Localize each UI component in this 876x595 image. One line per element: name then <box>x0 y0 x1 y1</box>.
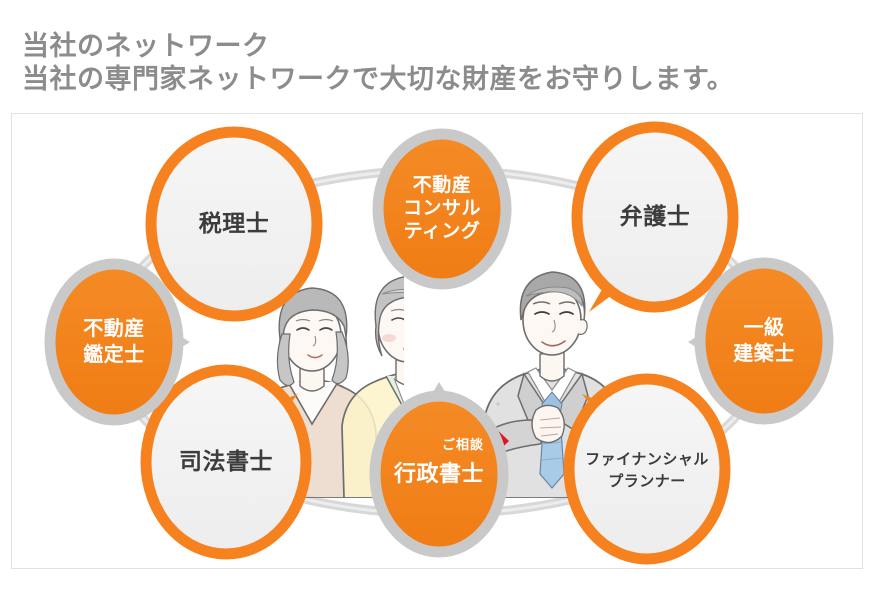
node-first-class-architect[interactable] <box>700 263 828 419</box>
node-tax-accountant[interactable] <box>151 132 317 316</box>
node-judicial-scrivener[interactable] <box>146 370 306 554</box>
infographic-root: 当社のネットワーク 当社の専門家ネットワークで大切な財産をお守りします。 <box>0 0 876 595</box>
title-line-2: 当社の専門家ネットワークで大切な財産をお守りします。 <box>22 63 862 96</box>
network-diagram-svg <box>12 114 864 570</box>
node-financial-planner[interactable] <box>569 379 725 559</box>
node-circles <box>50 127 828 559</box>
page-title: 当社のネットワーク 当社の専門家ネットワークで大切な財産をお守りします。 <box>22 30 862 96</box>
node-real-estate-consulting[interactable] <box>378 134 506 284</box>
node-administrative-scrivener[interactable] <box>375 396 503 552</box>
node-real-estate-appraiser[interactable] <box>50 264 178 420</box>
diagram-panel: 税理士 不動産 コンサル ティング 弁護士 一級 建築士 ファイナンシャル プラ… <box>11 113 863 569</box>
title-line-1: 当社のネットワーク <box>22 30 862 63</box>
node-lawyer[interactable] <box>577 127 733 307</box>
